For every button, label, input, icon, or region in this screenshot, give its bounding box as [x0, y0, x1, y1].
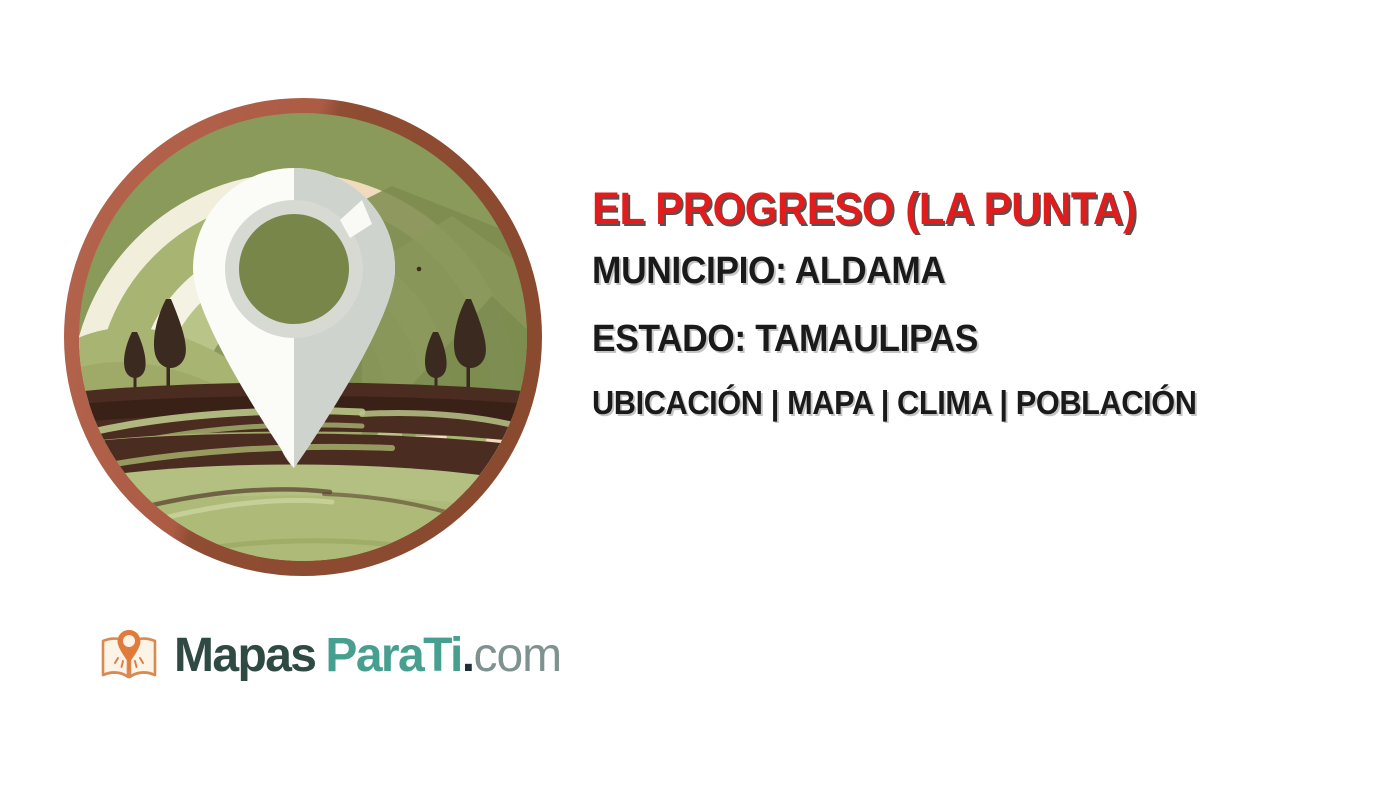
open-book-map-pin-icon [98, 625, 160, 687]
location-info-block: EL PROGRESO (LA PUNTA) MUNICIPIO: ALDAMA… [592, 181, 1392, 433]
brand-wordmark: Mapas ParaTi . com [174, 630, 561, 682]
brand-part-mapas: Mapas [174, 630, 315, 682]
brand-logo[interactable]: Mapas ParaTi . com [98, 615, 561, 697]
page-root: EL PROGRESO (LA PUNTA) MUNICIPIO: ALDAMA… [0, 0, 1400, 786]
section-links[interactable]: UBICACIÓN | MAPA | CLIMA | POBLACIÓN [592, 373, 1336, 433]
municipio-label: MUNICIPIO: ALDAMA [592, 237, 1336, 305]
page-title: EL PROGRESO (LA PUNTA) [592, 181, 1336, 237]
brand-part-parati: ParaTi [325, 630, 461, 682]
estado-label: ESTADO: TAMAULIPAS [592, 305, 1336, 373]
landscape-emblem-icon [62, 96, 544, 578]
brand-part-dot: . [462, 630, 474, 682]
brand-part-com: com [473, 630, 561, 682]
